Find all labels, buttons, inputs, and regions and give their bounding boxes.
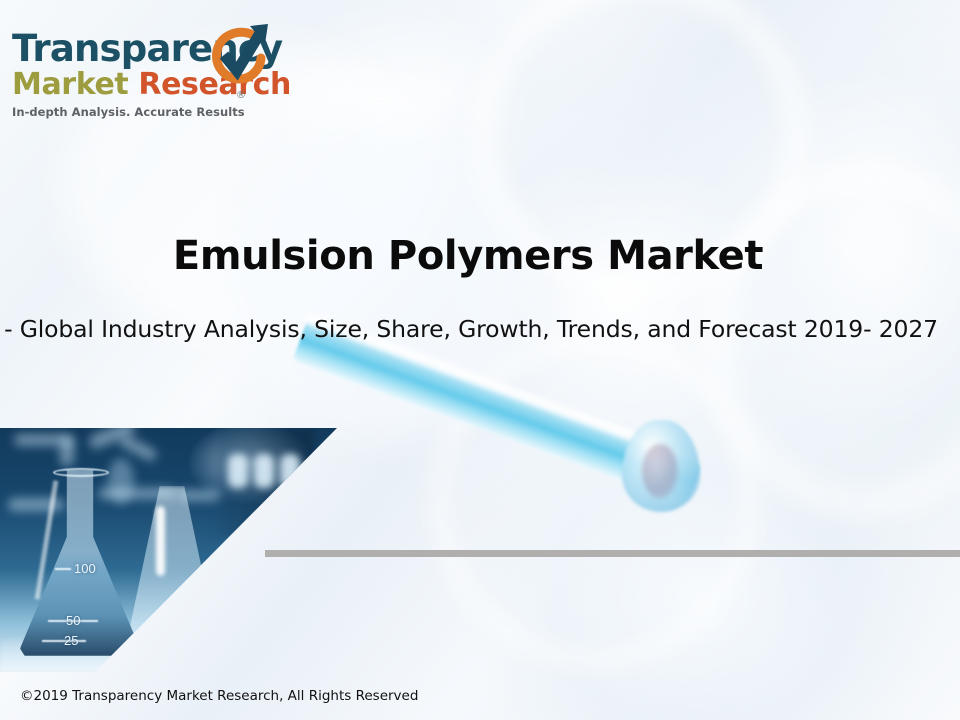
- brand-logo[interactable]: Transparency Market Research In-depth An…: [12, 30, 270, 119]
- checkmark-arrow-in-circle-icon: [206, 22, 274, 88]
- graduation-label: 25: [64, 633, 78, 648]
- graduation-label: 100: [74, 561, 96, 576]
- logo-text-market: Market: [12, 67, 128, 102]
- graduation-tick: [55, 568, 71, 570]
- chalkboard-formula-mark: [108, 458, 134, 504]
- graduation-label: 50: [66, 613, 80, 628]
- liquid-droplet-core: [642, 444, 678, 498]
- registered-trademark-icon: ®: [236, 90, 246, 101]
- copyright-footer: ©2019 Transparency Market Research, All …: [20, 687, 418, 705]
- logo-tagline: In-depth Analysis. Accurate Results: [12, 105, 270, 119]
- page-title: Emulsion Polymers Market: [0, 230, 936, 282]
- test-tube: [254, 454, 274, 488]
- flask-highlight: [156, 506, 165, 576]
- presentation-slide: Transparency Market Research In-depth An…: [0, 0, 960, 720]
- chalkboard-formula-mark: [8, 498, 64, 511]
- page-subtitle: - Global Industry Analysis, Size, Share,…: [0, 313, 942, 345]
- test-tube: [228, 454, 248, 488]
- flask-rim: [53, 468, 109, 477]
- chalkboard-formula-mark: [60, 438, 74, 466]
- divider-rule: [265, 550, 960, 557]
